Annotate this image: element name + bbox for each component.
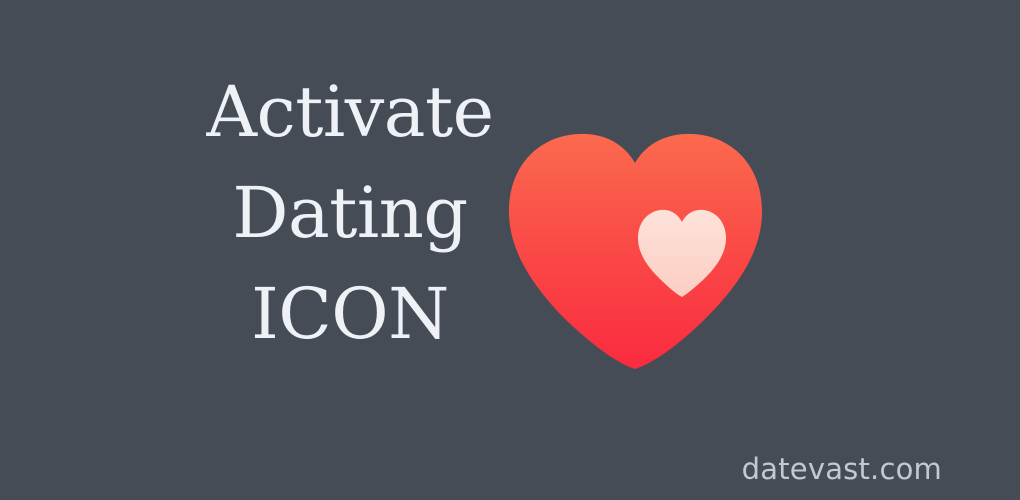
heart-icon xyxy=(500,126,772,376)
headline-line-3: ICON xyxy=(155,264,545,365)
site-watermark: datevast.com xyxy=(742,455,942,484)
headline-line-1: Activate xyxy=(155,62,545,163)
heart-svg xyxy=(500,126,772,376)
banner-canvas: Activate Dating ICON datevas xyxy=(0,0,1020,500)
headline-line-2: Dating xyxy=(155,163,545,264)
page-title: Activate Dating ICON xyxy=(155,62,545,365)
heart-outer-shape xyxy=(509,134,762,369)
